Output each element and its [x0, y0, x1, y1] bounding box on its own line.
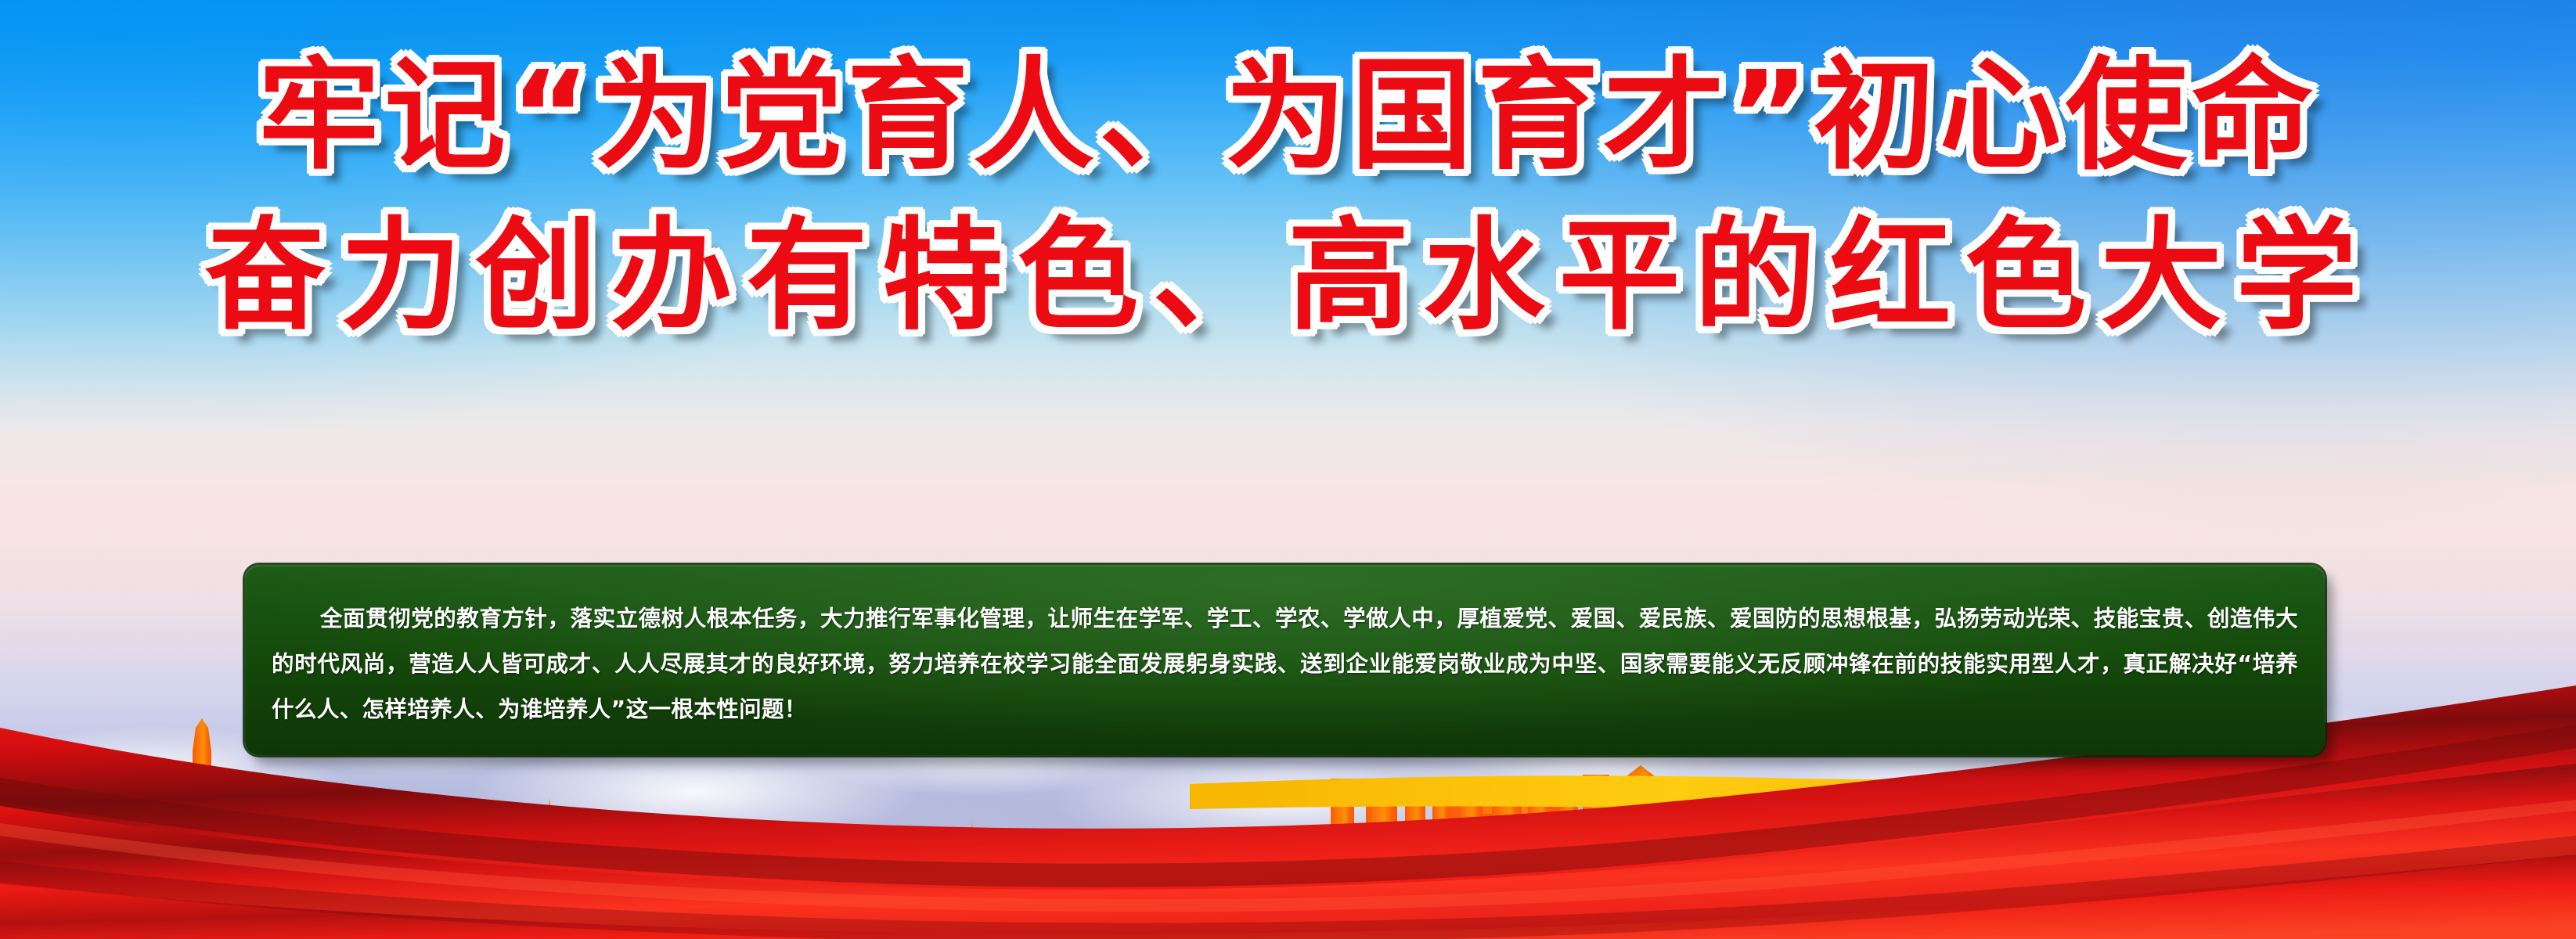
headline-line-2: 奋力创办有特色、高水平的红色大学	[0, 196, 2576, 357]
propaganda-banner: 牢记“为党育人、为国育才”初心使命 奋力创办有特色、高水平的红色大学 全面贯彻党…	[0, 0, 2576, 939]
green-message-panel: 全面贯彻党的教育方针，落实立德树人根本任务，大力推行军事化管理，让师生在学军、学…	[245, 565, 2325, 755]
panel-body-text: 全面贯彻党的教育方针，落实立德树人根本任务，大力推行军事化管理，让师生在学军、学…	[272, 596, 2298, 732]
headline-block: 牢记“为党育人、为国育才”初心使命 奋力创办有特色、高水平的红色大学	[0, 36, 2576, 356]
headline-line-1: 牢记“为党育人、为国育才”初心使命	[0, 36, 2576, 196]
